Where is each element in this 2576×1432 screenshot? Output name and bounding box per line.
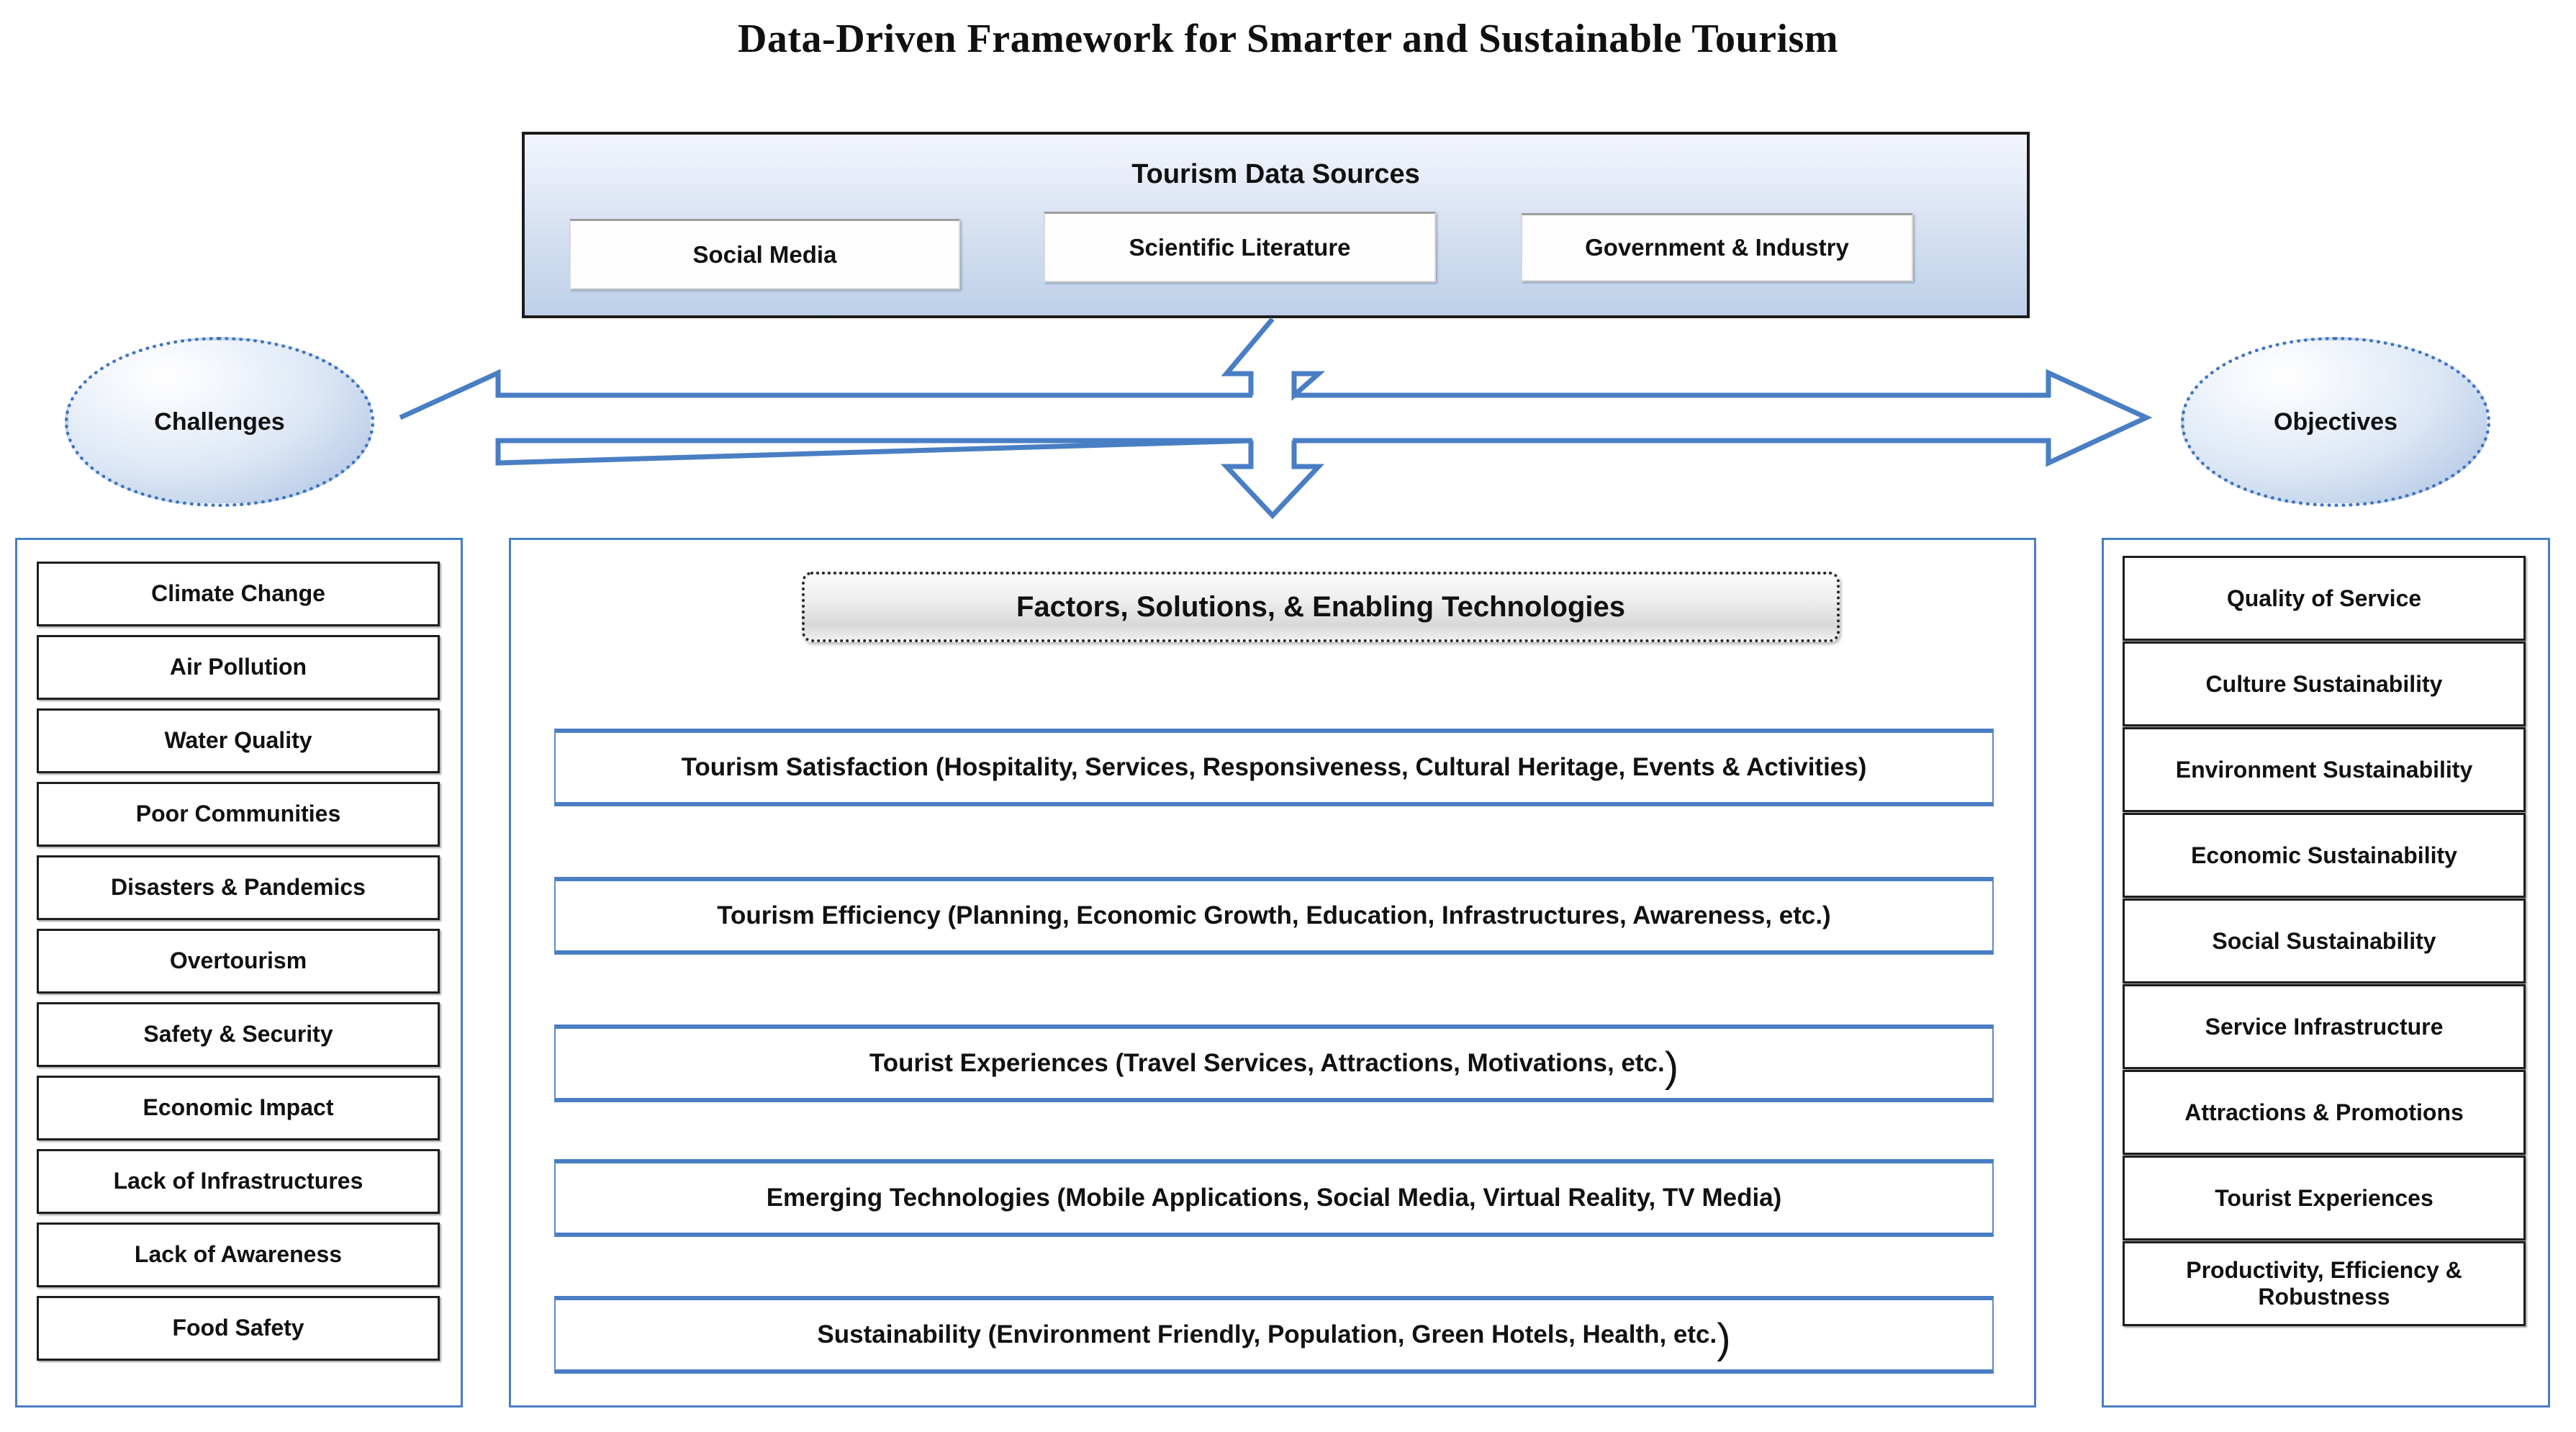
list-item[interactable]: Poor Communities: [37, 782, 440, 847]
center-row-label: Tourism Satisfaction (Hospitality, Servi…: [682, 753, 1867, 782]
page-title: Data-Driven Framework for Smarter and Su…: [0, 16, 2576, 62]
list-item[interactable]: Attractions & Promotions: [2123, 1070, 2526, 1155]
list-item[interactable]: Social Sustainability: [2123, 899, 2526, 983]
double-headed-vertical-arrow: [1226, 319, 1319, 515]
list-item[interactable]: Climate Change: [37, 562, 440, 626]
data-source-government-industry[interactable]: Government & Industry: [1521, 213, 1913, 282]
objectives-list: Quality of Service Culture Sustainabilit…: [2123, 556, 2526, 1327]
objectives-node[interactable]: Objectives: [2181, 337, 2490, 507]
list-item[interactable]: Lack of Awareness: [37, 1222, 440, 1287]
list-item[interactable]: Safety & Security: [37, 1002, 440, 1067]
list-item[interactable]: Food Safety: [37, 1296, 440, 1361]
list-item[interactable]: Tourist Experiences: [2123, 1156, 2526, 1240]
data-source-scientific-literature[interactable]: Scientific Literature: [1044, 212, 1436, 282]
center-row[interactable]: Emerging Technologies (Mobile Applicatio…: [554, 1159, 1994, 1237]
list-item[interactable]: Environment Sustainability: [2123, 727, 2526, 812]
challenges-panel: Climate Change Air Pollution Water Quali…: [15, 538, 463, 1408]
data-sources-heading: Tourism Data Sources: [525, 159, 2027, 190]
list-item[interactable]: Service Infrastructure: [2123, 984, 2526, 1069]
list-item[interactable]: Disasters & Pandemics: [37, 855, 440, 920]
list-item[interactable]: Quality of Service: [2123, 556, 2526, 641]
list-item[interactable]: Overtourism: [37, 929, 440, 994]
center-row[interactable]: Tourism Efficiency (Planning, Economic G…: [554, 877, 1994, 955]
challenges-label: Challenges: [154, 408, 284, 436]
challenges-node[interactable]: Challenges: [65, 337, 374, 507]
list-item[interactable]: Economic Sustainability: [2123, 813, 2526, 898]
double-headed-horizontal-arrow: [400, 373, 2146, 463]
list-item[interactable]: Air Pollution: [37, 635, 440, 700]
factors-solutions-panel: Factors, Solutions, & Enabling Technolog…: [509, 538, 2036, 1408]
list-item[interactable]: Economic Impact: [37, 1076, 440, 1140]
list-item[interactable]: Water Quality: [37, 708, 440, 773]
list-item[interactable]: Culture Sustainability: [2123, 641, 2526, 726]
objectives-panel: Quality of Service Culture Sustainabilit…: [2102, 538, 2550, 1408]
list-item[interactable]: Lack of Infrastructures: [37, 1149, 440, 1214]
center-row[interactable]: Tourist Experiences (Travel Services, At…: [554, 1025, 1994, 1102]
center-row-label: Emerging Technologies (Mobile Applicatio…: [767, 1184, 1782, 1212]
objectives-label: Objectives: [2274, 408, 2398, 436]
list-item[interactable]: Productivity, Efficiency & Robustness: [2123, 1241, 2526, 1326]
tourism-data-sources-panel: Tourism Data Sources Social Media Scient…: [522, 132, 2030, 318]
center-row-label: Sustainability (Environment Friendly, Po…: [817, 1320, 1717, 1349]
data-source-social-media[interactable]: Social Media: [569, 219, 960, 289]
center-panel-heading: Factors, Solutions, & Enabling Technolog…: [802, 572, 1840, 642]
center-row[interactable]: Tourism Satisfaction (Hospitality, Servi…: [554, 729, 1994, 806]
center-row-label: Tourism Efficiency (Planning, Economic G…: [717, 901, 1830, 930]
center-row-label: Tourist Experiences (Travel Services, At…: [869, 1049, 1665, 1078]
challenges-list: Climate Change Air Pollution Water Quali…: [37, 562, 440, 1369]
center-row[interactable]: Sustainability (Environment Friendly, Po…: [554, 1296, 1994, 1374]
